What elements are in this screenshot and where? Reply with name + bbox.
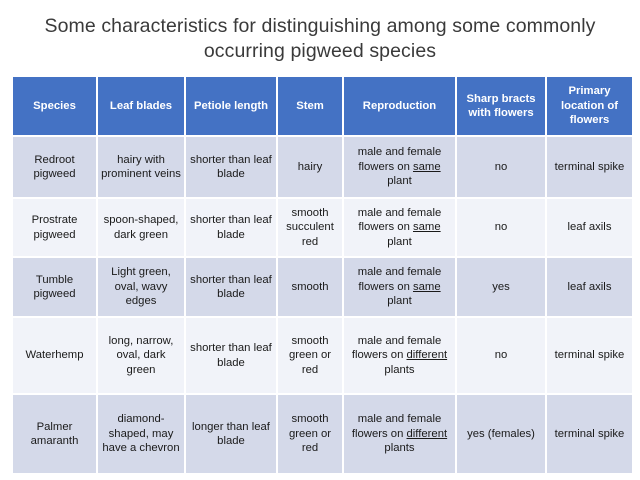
table-body: Redroot pigweed hairy with prominent vei… bbox=[13, 137, 632, 473]
column-header-sharp-bracts: Sharp bracts with flowers bbox=[457, 77, 545, 135]
table-row: Palmer amaranth diamond-shaped, may have… bbox=[13, 395, 632, 473]
cell-reproduction: male and female flowers on same plant bbox=[344, 258, 455, 316]
column-header-leaf-blades: Leaf blades bbox=[98, 77, 184, 135]
cell-reproduction: male and female flowers on different pla… bbox=[344, 318, 455, 393]
cell-primary-location: leaf axils bbox=[547, 199, 632, 256]
reproduction-emphasis: different bbox=[407, 349, 448, 361]
cell-petiole-length: shorter than leaf blade bbox=[186, 199, 276, 256]
cell-petiole-length: shorter than leaf blade bbox=[186, 258, 276, 316]
table-row: Prostrate pigweed spoon-shaped, dark gre… bbox=[13, 199, 632, 256]
cell-leaf-blades: long, narrow, oval, dark green bbox=[98, 318, 184, 393]
reproduction-text-post: plant bbox=[387, 295, 412, 307]
table-header: Species Leaf blades Petiole length Stem … bbox=[13, 77, 632, 135]
cell-species: Redroot pigweed bbox=[13, 137, 96, 197]
cell-petiole-length: shorter than leaf blade bbox=[186, 318, 276, 393]
table-row: Waterhemp long, narrow, oval, dark green… bbox=[13, 318, 632, 393]
table-row: Redroot pigweed hairy with prominent vei… bbox=[13, 137, 632, 197]
reproduction-text-post: plant bbox=[387, 175, 412, 187]
cell-stem: smooth green or red bbox=[278, 318, 342, 393]
reproduction-text-post: plants bbox=[384, 442, 414, 454]
cell-primary-location: terminal spike bbox=[547, 395, 632, 473]
cell-leaf-blades: spoon-shaped, dark green bbox=[98, 199, 184, 256]
cell-reproduction: male and female flowers on different pla… bbox=[344, 395, 455, 473]
cell-species: Prostrate pigweed bbox=[13, 199, 96, 256]
cell-petiole-length: shorter than leaf blade bbox=[186, 137, 276, 197]
column-header-petiole-length: Petiole length bbox=[186, 77, 276, 135]
cell-leaf-blades: hairy with prominent veins bbox=[98, 137, 184, 197]
cell-species: Tumble pigweed bbox=[13, 258, 96, 316]
table-header-row: Species Leaf blades Petiole length Stem … bbox=[13, 77, 632, 135]
cell-primary-location: terminal spike bbox=[547, 318, 632, 393]
cell-primary-location: terminal spike bbox=[547, 137, 632, 197]
cell-sharp-bracts: no bbox=[457, 137, 545, 197]
reproduction-text-post: plants bbox=[384, 364, 414, 376]
cell-stem: hairy bbox=[278, 137, 342, 197]
cell-leaf-blades: Light green, oval, wavy edges bbox=[98, 258, 184, 316]
column-header-species: Species bbox=[13, 77, 96, 135]
cell-species: Palmer amaranth bbox=[13, 395, 96, 473]
cell-species: Waterhemp bbox=[13, 318, 96, 393]
cell-stem: smooth green or red bbox=[278, 395, 342, 473]
pigweed-characteristics-table: Species Leaf blades Petiole length Stem … bbox=[11, 75, 630, 475]
page-title: Some characteristics for distinguishing … bbox=[38, 14, 602, 64]
cell-reproduction: male and female flowers on same plant bbox=[344, 199, 455, 256]
cell-sharp-bracts: no bbox=[457, 199, 545, 256]
column-header-stem: Stem bbox=[278, 77, 342, 135]
cell-stem: smooth succulent red bbox=[278, 199, 342, 256]
cell-sharp-bracts: no bbox=[457, 318, 545, 393]
reproduction-emphasis: different bbox=[407, 428, 448, 440]
reproduction-emphasis: same bbox=[413, 281, 441, 293]
slide-canvas: Some characteristics for distinguishing … bbox=[0, 0, 640, 480]
table: Species Leaf blades Petiole length Stem … bbox=[11, 75, 634, 475]
cell-stem: smooth bbox=[278, 258, 342, 316]
cell-reproduction: male and female flowers on same plant bbox=[344, 137, 455, 197]
reproduction-text-post: plant bbox=[387, 236, 412, 248]
column-header-reproduction: Reproduction bbox=[344, 77, 455, 135]
cell-sharp-bracts: yes bbox=[457, 258, 545, 316]
reproduction-emphasis: same bbox=[413, 221, 441, 233]
table-row: Tumble pigweed Light green, oval, wavy e… bbox=[13, 258, 632, 316]
cell-primary-location: leaf axils bbox=[547, 258, 632, 316]
reproduction-emphasis: same bbox=[413, 161, 441, 173]
cell-petiole-length: longer than leaf blade bbox=[186, 395, 276, 473]
cell-sharp-bracts: yes (females) bbox=[457, 395, 545, 473]
column-header-primary-location: Primary location of flowers bbox=[547, 77, 632, 135]
cell-leaf-blades: diamond-shaped, may have a chevron bbox=[98, 395, 184, 473]
